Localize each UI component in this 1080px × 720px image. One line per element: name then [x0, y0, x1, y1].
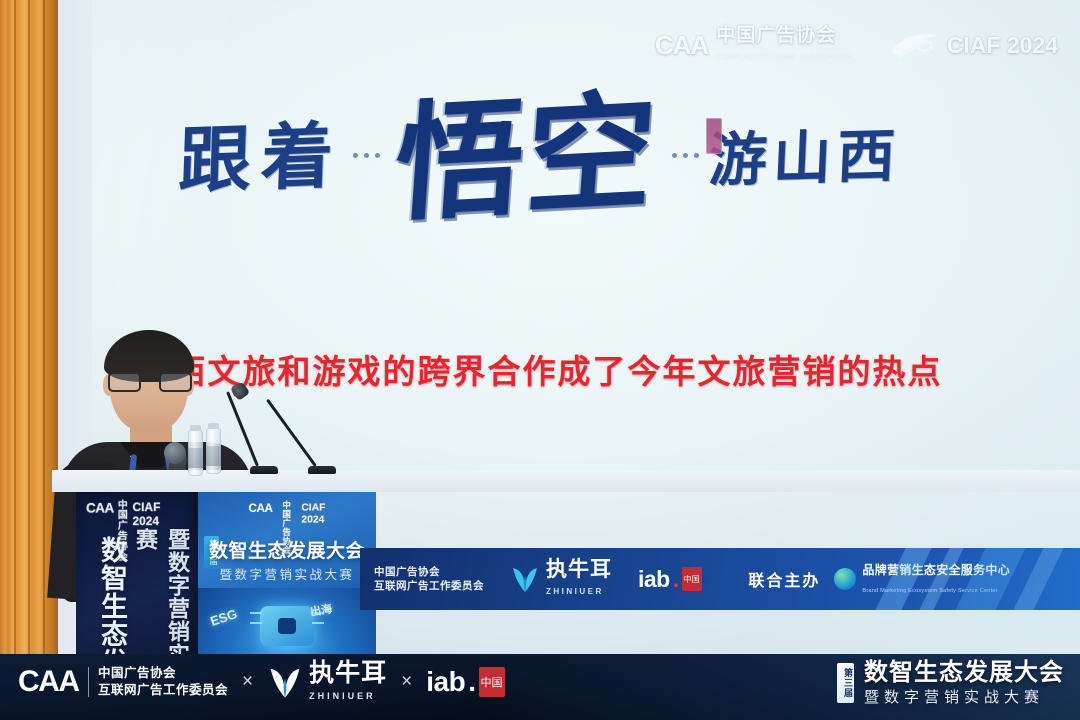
overlay-text-block: 数智生态发展大会 暨数字营销实战大赛	[864, 659, 1064, 708]
keyword-esg: ESG	[208, 606, 239, 629]
iab-wordmark: iab	[638, 566, 670, 593]
bottom-separator-1: ×	[242, 671, 253, 693]
co-host-label: 联合主办	[748, 567, 820, 591]
iab-china-seal: 中国	[682, 567, 702, 591]
caa-logo-text: 中国广告协会 CHINA ADVERTISING ASSOCIATION	[716, 26, 853, 64]
sponsor-caa-line2: 互联网广告工作委员会	[374, 580, 484, 592]
iab-dot: .	[673, 566, 679, 593]
caa-logo-english: CHINA ADVERTISING ASSOCIATION	[716, 54, 853, 61]
bottom-separator-2: ×	[401, 671, 412, 693]
bottom-caa-line2: 互联网广告工作委员会	[98, 682, 228, 697]
zhiniuer-text: 执牛耳 ZHINIUER	[546, 559, 612, 599]
conference-stage-photo: CAA 中国广告协会 CHINA ADVERTISING ASSOCIATION…	[0, 0, 1080, 720]
bottom-zhiniuer-text: 执牛耳 ZHINIUER	[309, 660, 387, 704]
slide-calligraphy-title: 跟着 悟空 游山西	[0, 78, 1080, 238]
bottom-iab-china-seal: 中国	[479, 667, 505, 697]
water-bottle	[206, 428, 221, 474]
caa-logo: CAA 中国广告协会 CHINA ADVERTISING ASSOCIATION	[655, 26, 853, 64]
bottom-divider	[88, 667, 90, 697]
chip-icon	[260, 606, 314, 646]
podium-table-top	[52, 470, 1080, 492]
ciaf-swoosh-icon	[887, 30, 939, 60]
zhiniuer-chinese: 执牛耳	[546, 557, 612, 581]
zhiniuer-leaf-icon	[510, 564, 540, 594]
calligraphy-word-2: 悟空	[391, 87, 661, 228]
caa-logo-mark: CAA	[655, 30, 708, 61]
keyword-chuhai: 出海	[309, 600, 333, 620]
sponsor-band-left: 中国广告协会 互联网广告工作委员会 执牛耳 ZHINIUER iab . 中国	[360, 559, 702, 599]
bottom-zhiniuer-logo: 执牛耳 ZHINIUER	[267, 660, 387, 704]
microphone-head-icon	[164, 442, 186, 464]
gooseneck-microphone	[232, 388, 352, 474]
bottom-zhiniuer-english: ZHINIUER	[309, 691, 376, 701]
bottom-iab-wordmark: iab	[426, 666, 465, 698]
calligraphy-dots-right	[672, 153, 699, 164]
bottom-zhiniuer-chinese: 执牛耳	[309, 658, 387, 687]
bottom-partner-strip: CAA 中国广告协会 互联网广告工作委员会 × 执牛耳 ZHINIUER × i…	[18, 652, 505, 712]
sponsor-caa-block: 中国广告协会 互联网广告工作委员会	[374, 565, 484, 593]
bottom-iab-dot: .	[468, 666, 475, 698]
bottom-right-event-overlay: 第三届 数智生态发展大会 暨数字营销实战大赛	[827, 652, 1074, 714]
podium-front-subtitle: 暨数字营销实战大赛	[198, 564, 376, 583]
zhiniuer-leaf-icon	[267, 664, 303, 700]
overlay-title: 数智生态发展大会	[864, 658, 1064, 686]
eyeglasses-icon	[106, 372, 194, 392]
bottom-caa-line1: 中国广告协会	[98, 665, 176, 680]
header-logos: CAA 中国广告协会 CHINA ADVERTISING ASSOCIATION…	[655, 26, 1058, 64]
bottom-caa-mark: CAA	[18, 665, 79, 699]
calligraphy-dots-left	[353, 153, 380, 164]
calligraphy-seal-stamp	[706, 118, 722, 154]
zhiniuer-english: ZHINIUER	[546, 587, 604, 596]
ciaf-logo-text: CIAF 2024	[947, 32, 1058, 59]
ciaf-logo: CIAF 2024	[887, 30, 1058, 60]
bottom-caa-text: 中国广告协会 互联网广告工作委员会	[98, 665, 228, 699]
sponsor-caa-line1: 中国广告协会	[374, 566, 440, 578]
sponsor-band-diagonal-decor	[850, 548, 1080, 610]
overlay-subtitle: 暨数字营销实战大赛	[864, 688, 1044, 706]
caa-logo-chinese: 中国广告协会	[716, 25, 836, 46]
overlay-edition-badge: 第三届	[837, 663, 854, 703]
bottom-caa-logo: CAA 中国广告协会 互联网广告工作委员会	[18, 665, 228, 699]
zhiniuer-logo: 执牛耳 ZHINIUER	[510, 559, 612, 599]
calligraphy-word-1: 跟着	[178, 119, 345, 197]
bottom-iab-logo: iab . 中国	[426, 666, 504, 698]
podium-front-title: 数智生态发展大会	[198, 536, 376, 563]
iab-logo: iab . 中国	[638, 566, 702, 593]
calligraphy-word-3: 游山西	[708, 126, 903, 189]
water-bottle	[188, 430, 203, 476]
